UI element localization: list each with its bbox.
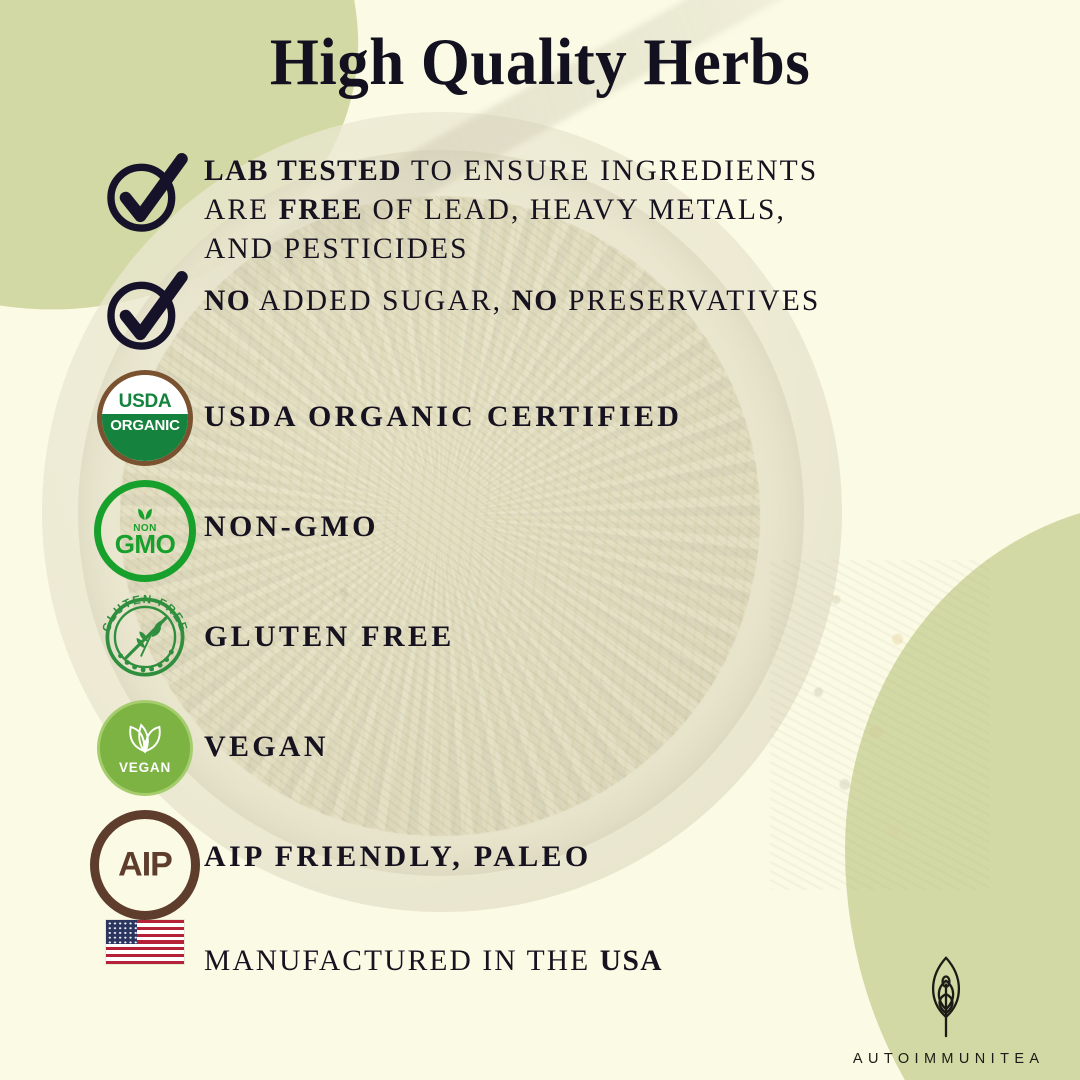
leaf-icon	[122, 721, 168, 759]
list-item: VEGAN VEGAN	[86, 700, 966, 810]
feature-line: ARE FREE OF LEAD, HEAVY METALS,	[204, 191, 966, 230]
list-item: MANUFACTURED IN THE USA	[86, 920, 966, 1016]
usa-flag-icon	[86, 920, 204, 964]
brand-logo: AUTOIMMUNITEA	[838, 952, 1054, 1067]
infographic-canvas: High Quality Herbs LAB TESTED TO ENSURE …	[0, 0, 1080, 1080]
page-title: High Quality Herbs	[32, 24, 1047, 101]
list-item: NO ADDED SUGAR, NO PRESERVATIVES	[86, 266, 966, 370]
usda-badge-top-text: USDA	[119, 391, 172, 413]
list-item: GLUTEN FREE	[86, 590, 966, 700]
feature-list: LAB TESTED TO ENSURE INGREDIENTS ARE FRE…	[86, 148, 966, 1016]
list-item: NON GMO NON-GMO	[86, 480, 966, 590]
list-item: AIP AIP FRIENDLY, PALEO	[86, 810, 966, 920]
vegan-badge-icon: VEGAN	[86, 700, 204, 796]
list-item: USDA ORGANIC USDA ORGANIC CERTIFIED	[86, 370, 966, 480]
gluten-free-badge-icon: GLUTEN FREE	[86, 590, 204, 684]
feature-text: NON-GMO	[204, 480, 966, 542]
aip-badge-icon: AIP	[86, 810, 204, 920]
non-gmo-badge-icon: NON GMO	[86, 480, 204, 582]
brand-wordmark: AUTOIMMUNITEA	[848, 1051, 1045, 1067]
feature-text: NO ADDED SUGAR, NO PRESERVATIVES	[204, 266, 966, 321]
feature-label: NON-GMO	[204, 512, 966, 542]
feature-text: VEGAN	[204, 700, 966, 762]
feature-text: USDA ORGANIC CERTIFIED	[204, 370, 966, 432]
leaf-logo-icon	[917, 952, 975, 1043]
non-gmo-main-text: GMO	[115, 533, 176, 557]
checkmark-circle-icon	[86, 148, 204, 240]
feature-text: GLUTEN FREE	[204, 590, 966, 652]
usda-badge-bottom-text: ORGANIC	[110, 417, 179, 434]
feature-line: NO ADDED SUGAR, NO PRESERVATIVES	[204, 282, 966, 321]
usda-organic-badge-icon: USDA ORGANIC	[86, 370, 204, 466]
feature-label: USDA ORGANIC CERTIFIED	[204, 402, 966, 432]
feature-line: AND PESTICIDES	[204, 230, 966, 269]
aip-badge-text: AIP	[118, 846, 172, 885]
list-item: LAB TESTED TO ENSURE INGREDIENTS ARE FRE…	[86, 148, 966, 266]
feature-line: LAB TESTED TO ENSURE INGREDIENTS	[204, 152, 966, 191]
feature-label: AIP FRIENDLY, PALEO	[204, 842, 966, 872]
vegan-badge-text: VEGAN	[119, 760, 171, 775]
feature-label: VEGAN	[204, 732, 966, 762]
feature-text: LAB TESTED TO ENSURE INGREDIENTS ARE FRE…	[204, 148, 966, 269]
feature-label: GLUTEN FREE	[204, 622, 966, 652]
feature-text: AIP FRIENDLY, PALEO	[204, 810, 966, 872]
checkmark-circle-icon	[86, 266, 204, 358]
